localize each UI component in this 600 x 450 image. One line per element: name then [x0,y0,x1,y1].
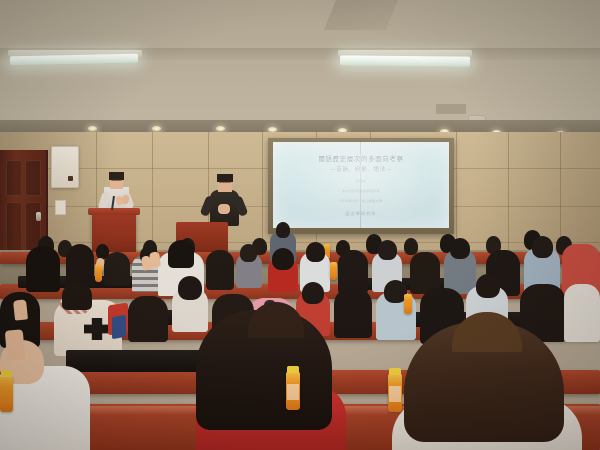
wall-panel-line [152,132,153,257]
ceiling [0,0,600,132]
door-handle-icon[interactable] [36,212,41,221]
glasses-icon [111,179,122,181]
lectern-top [88,208,140,215]
audience-hair [62,282,92,310]
bottle-label [287,384,299,400]
bottle-label [389,386,401,402]
audience-head [378,240,397,260]
audience-hair-long [334,288,372,338]
bottle-cap [287,366,299,373]
audience-head [302,282,324,304]
door-panel [25,160,41,196]
raised-hand [149,251,161,267]
audience-hair-long [128,296,168,342]
audience-hair-long [206,250,234,290]
downlight-icon [216,126,225,131]
ceiling-air-vent-icon [324,0,398,30]
bottle-cap [1,370,12,377]
drink-bottle-front [0,376,13,412]
wall-vent-icon [436,104,466,114]
audience-head [276,222,290,238]
drink-bottle [330,262,337,280]
audience-hair [272,248,294,270]
door-panel [6,160,22,196]
audience-head [306,242,325,262]
jacket-navy-block [112,315,126,339]
speaker-logo-icon [68,176,73,181]
audience-head [476,274,500,298]
audience-torso-white [564,284,600,342]
downlight-icon [88,126,97,131]
audience-hair-long [168,240,194,268]
audience-hair [104,252,130,286]
drink-bottle [95,264,102,282]
audience-hair-long [66,244,94,284]
audience-head [178,276,202,300]
door-panel [6,202,22,252]
audience-head [532,236,553,258]
drink-bottle-front [286,372,300,410]
raised-hand [13,299,28,320]
wall-speaker-icon [51,146,79,188]
lecture-hall-photo: 閩語歷史層次的多面向考察 —音韻、詞彙、語法— 吳瑞文 中央研究院語言學研究所 … [0,0,600,450]
raised-hand [5,329,26,360]
audience-head [404,238,418,255]
downlight-icon [152,126,161,131]
audience-head [240,244,257,262]
screen-glare [273,142,449,228]
glasses-icon [219,181,231,183]
presenter-right-hands [218,204,230,214]
drink-bottle [404,294,412,314]
audience-hair-long [26,246,60,292]
bottle-cap [389,368,401,375]
audience-head [450,238,470,259]
fluorescent-tube-right-icon [340,55,470,66]
wall-switch-plate-icon [55,200,66,215]
drink-bottle-front [388,374,402,412]
